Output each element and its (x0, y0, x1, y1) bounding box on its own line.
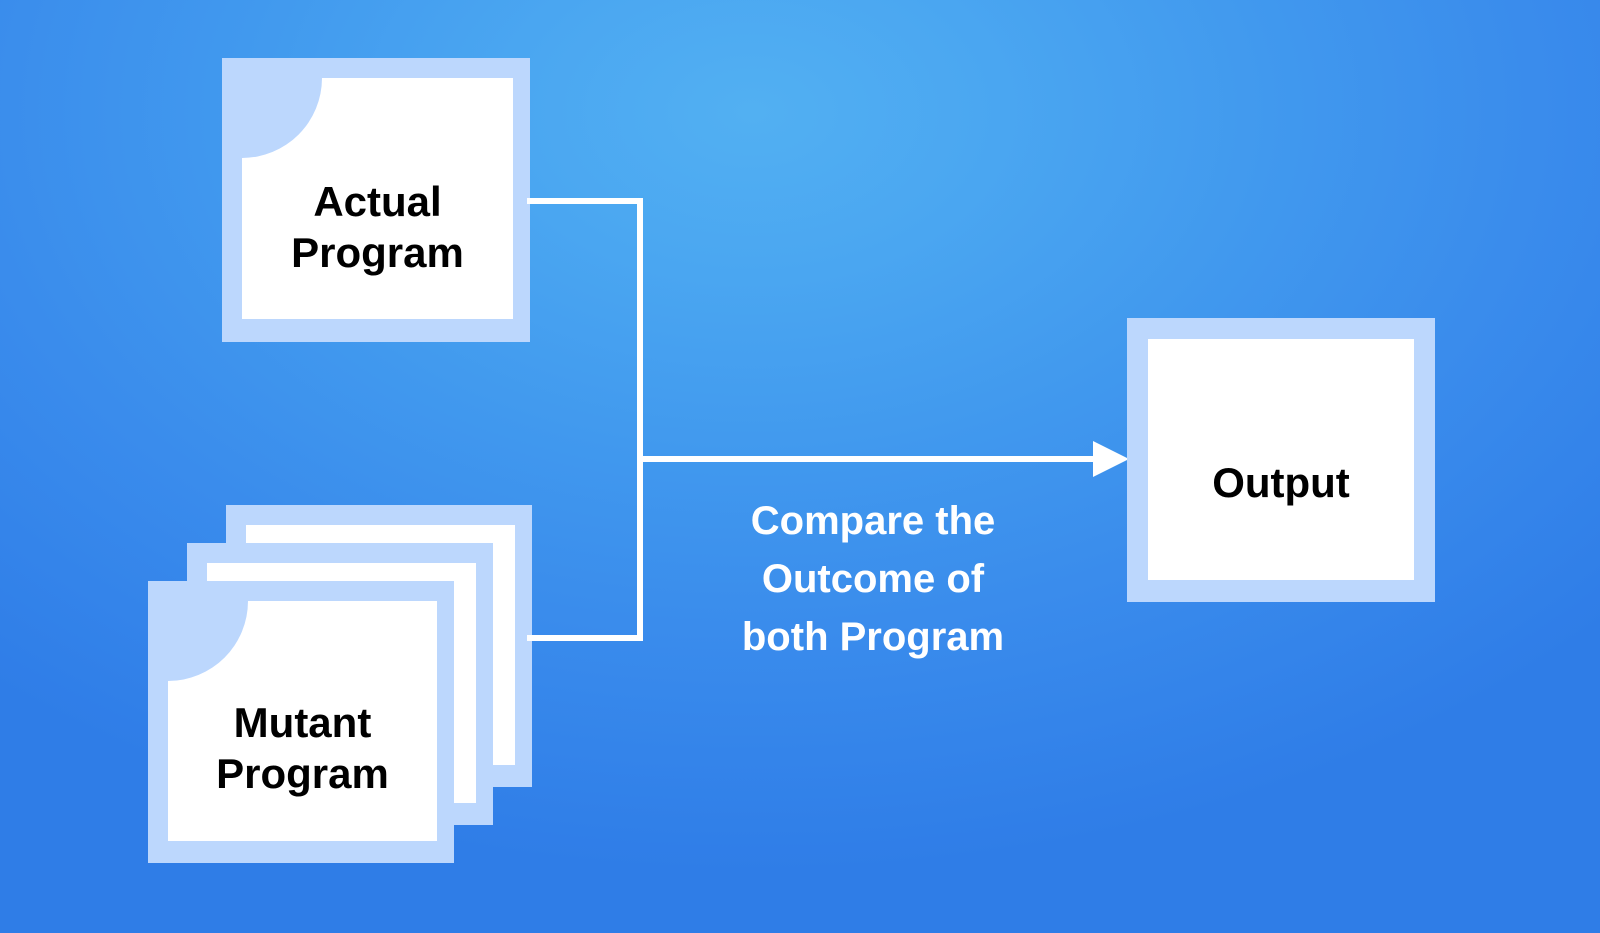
output-label: Output (1148, 457, 1414, 508)
actual-program-label: Actual Program (242, 176, 513, 278)
actual-program-node[interactable]: Actual Program (222, 58, 530, 342)
diagram-canvas: Actual Program Mutant Program Compare th… (0, 0, 1600, 933)
connector-output-horizontal (637, 456, 1096, 462)
mutant-program-node[interactable]: Mutant Program (148, 505, 540, 863)
comparison-caption: Compare the Outcome of both Program (648, 492, 1098, 666)
connector-actual-horizontal (527, 198, 643, 204)
mutant-program-panel: Mutant Program (168, 601, 437, 841)
connector-mutant-horizontal (527, 635, 643, 641)
connector-vertical-join (637, 198, 643, 641)
actual-program-panel: Actual Program (242, 78, 513, 319)
output-node[interactable]: Output (1127, 318, 1435, 602)
mutant-card-front[interactable]: Mutant Program (148, 581, 454, 863)
page-corner-icon (242, 78, 322, 158)
output-panel: Output (1148, 339, 1414, 580)
arrow-head-icon (1093, 441, 1129, 477)
page-corner-icon (168, 601, 248, 681)
mutant-program-label: Mutant Program (168, 697, 437, 799)
